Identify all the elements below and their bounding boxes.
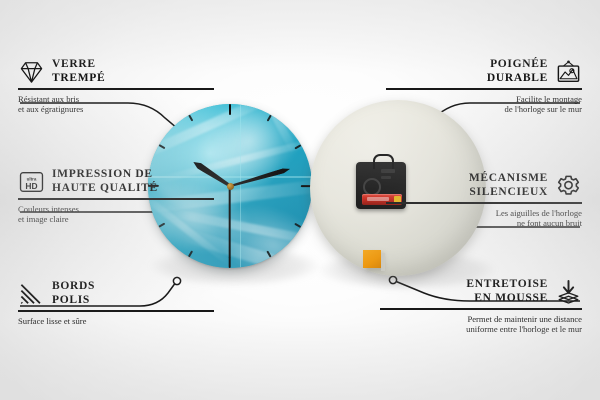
foam-spacer-icon: [555, 279, 582, 305]
feature-rule: [18, 310, 214, 312]
feature-desc: Les aiguilles de l'horloge ne font aucun…: [386, 208, 582, 229]
feature-title: IMPRESSION DE HAUTE QUALITÉ: [52, 168, 158, 195]
clock-center-cap: [227, 183, 234, 190]
feature-rule: [18, 88, 214, 90]
gear-icon: [555, 173, 582, 199]
feature-verre-trempe: VERRE TREMPÉ Résistant aux bris et aux é…: [18, 58, 214, 115]
feature-poignee-durable: POIGNÉE DURABLE Facilite le montage de l…: [386, 58, 582, 115]
feature-desc: Résistant aux bris et aux égratignures: [18, 94, 214, 115]
ultra-hd-icon: ultra HD: [18, 169, 45, 195]
foam-spacer-side: [381, 253, 385, 271]
feature-title: VERRE TREMPÉ: [52, 58, 105, 85]
feature-title: ENTRETOISE EN MOUSSE: [466, 278, 548, 305]
hanger-loop-icon: [373, 154, 394, 169]
clock-tick: [230, 185, 312, 187]
feature-rule: [18, 198, 214, 200]
foam-spacer: [363, 250, 381, 268]
diamond-icon: [18, 59, 45, 85]
feature-desc: Permet de maintenir une distance uniform…: [380, 314, 582, 335]
feature-mecanisme-silencieux: MÉCANISME SILENCIEUX Les aiguilles de l'…: [386, 172, 582, 229]
feature-desc: Facilite le montage de l'horloge sur le …: [386, 94, 582, 115]
feature-desc: Couleurs intenses et image claire: [18, 204, 214, 225]
clock-second-hand: [229, 186, 231, 258]
clock-tick: [229, 104, 231, 186]
polished-edge-icon: [18, 281, 45, 307]
infographic-canvas: VERRE TREMPÉ Résistant aux bris et aux é…: [0, 0, 600, 400]
svg-text:HD: HD: [25, 180, 37, 190]
feature-entretoise-en-mousse: ENTRETOISE EN MOUSSE Permet de maintenir…: [380, 278, 582, 335]
feature-rule: [386, 202, 582, 204]
feature-bords-polis: BORDS POLIS Surface lisse et sûre: [18, 280, 214, 326]
picture-hanger-icon: [555, 59, 582, 85]
feature-title: BORDS POLIS: [52, 280, 95, 307]
feature-desc: Surface lisse et sûre: [18, 316, 214, 327]
feature-title: MÉCANISME SILENCIEUX: [469, 172, 548, 199]
feature-impression-haute-qualite: ultra HD IMPRESSION DE HAUTE QUALITÉ Cou…: [18, 168, 214, 225]
feature-title: POIGNÉE DURABLE: [487, 58, 548, 85]
feature-rule: [380, 308, 582, 310]
feature-rule: [386, 88, 582, 90]
